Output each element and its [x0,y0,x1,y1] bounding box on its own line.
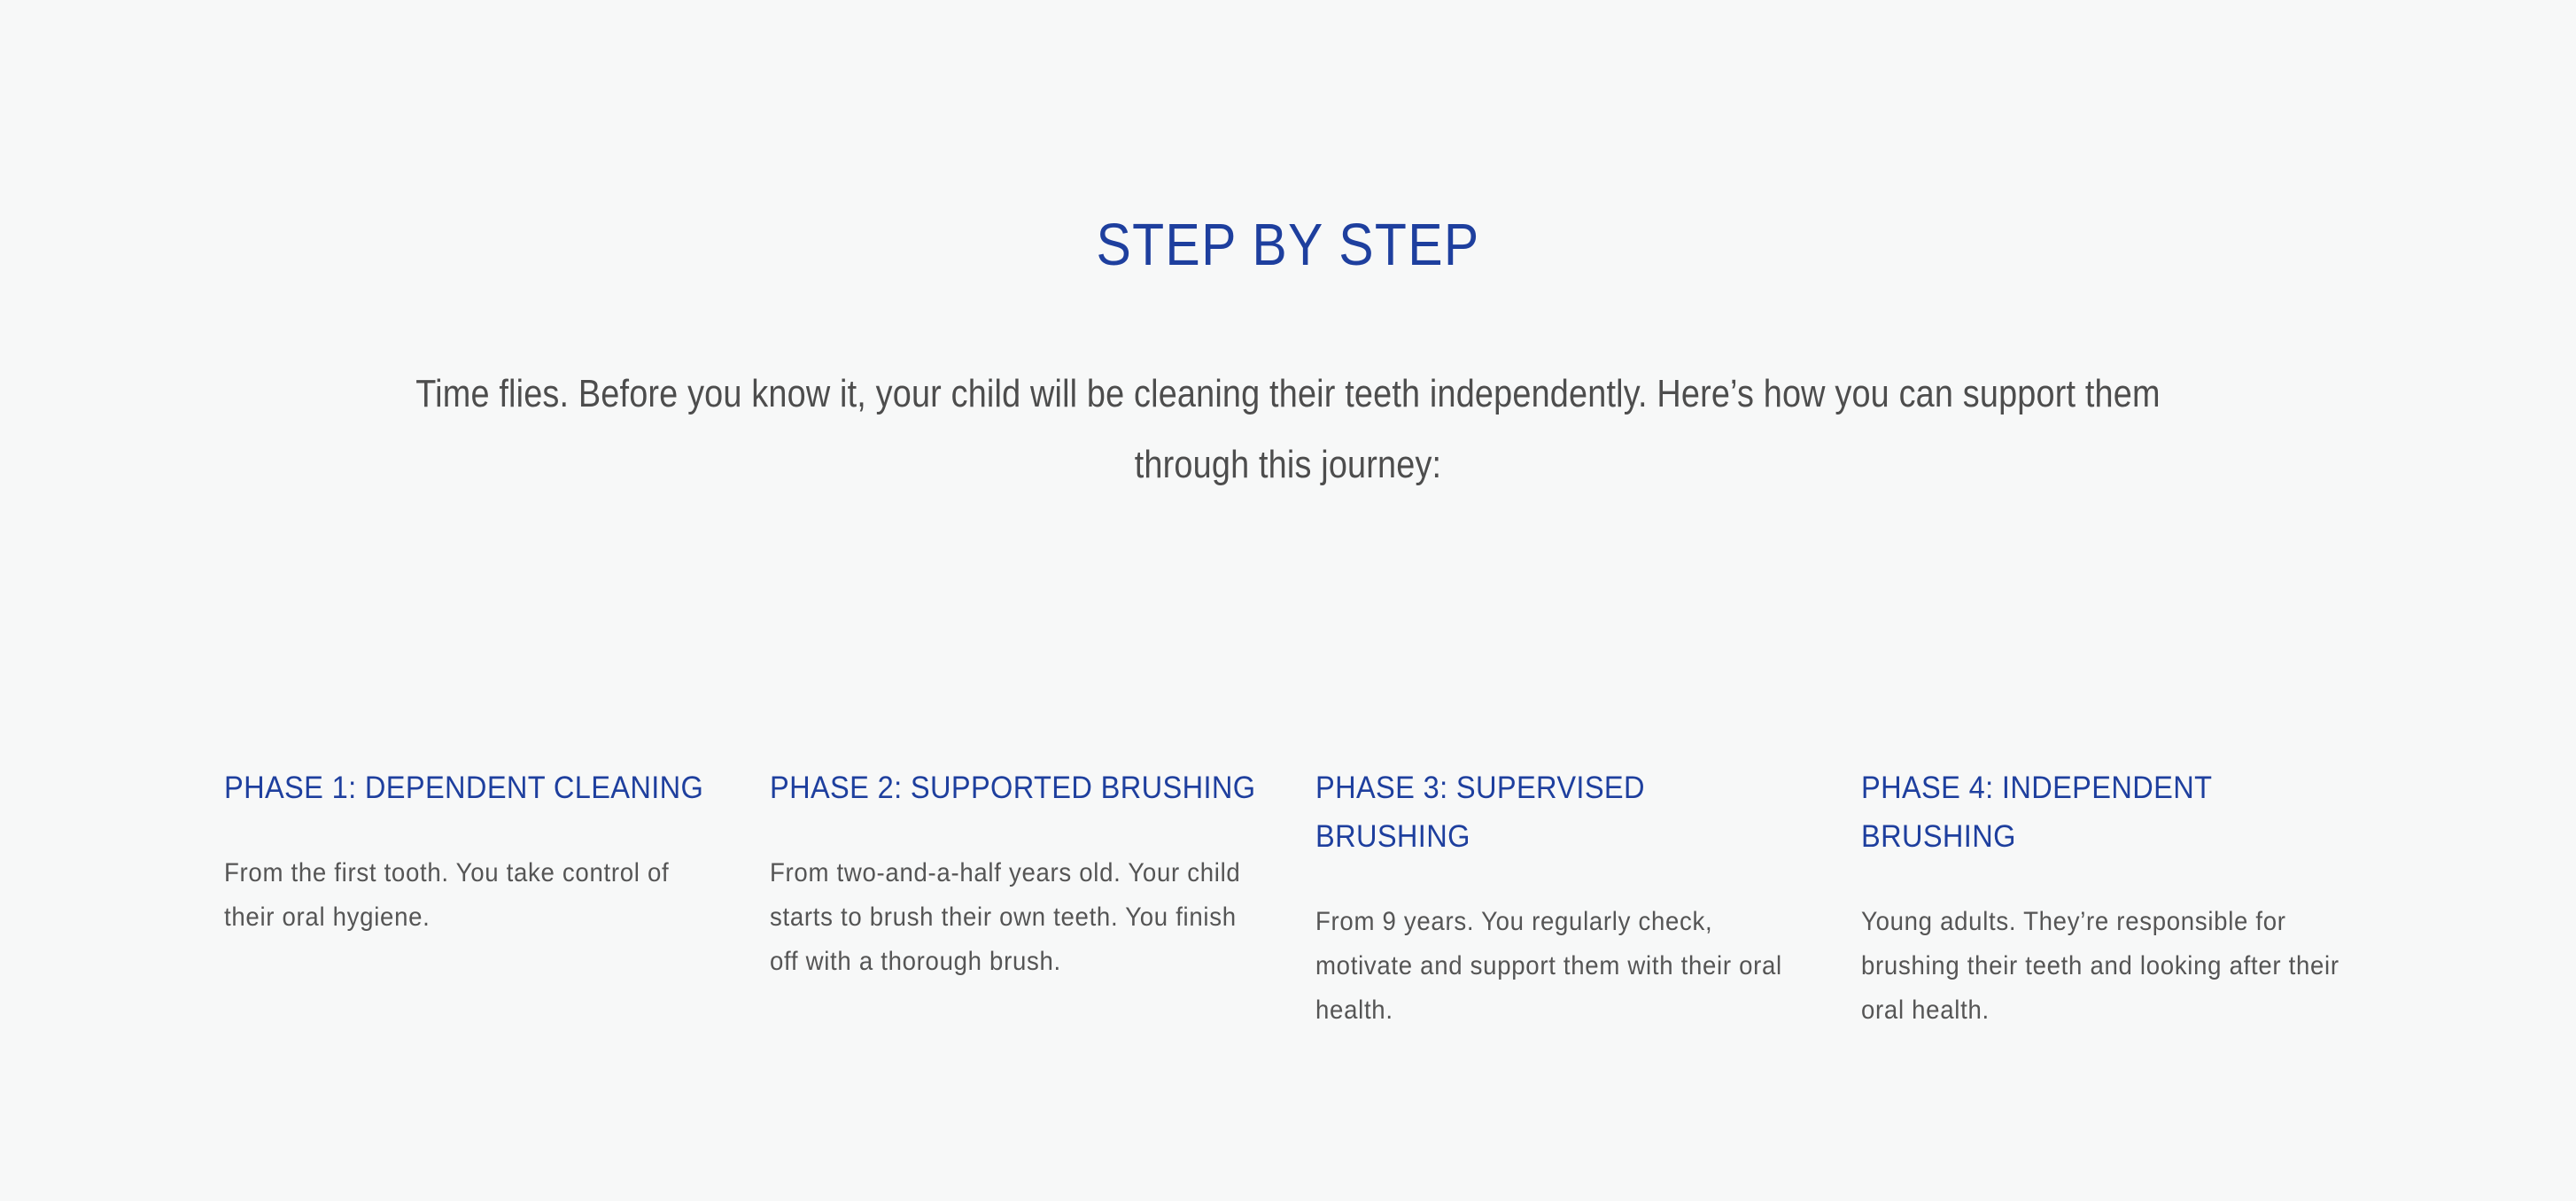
phase-1-body: From the first tooth. You take control o… [224,851,711,940]
phase-columns: PHASE 1: DEPENDENT CLEANING From the fir… [224,763,2352,1033]
phase-column-3: PHASE 3: SUPERVISED BRUSHING From 9 year… [1315,763,1804,1033]
phase-column-2: PHASE 2: SUPPORTED BRUSHING From two-and… [770,763,1258,984]
phase-3-title: PHASE 3: SUPERVISED BRUSHING [1315,763,1804,861]
page-title: STEP BY STEP [154,215,2421,275]
phase-column-4: PHASE 4: INDEPENDENT BRUSHING Young adul… [1861,763,2349,1033]
phase-3-body: From 9 years. You regularly check, motiv… [1315,900,1803,1033]
phase-2-title: PHASE 2: SUPPORTED BRUSHING [770,763,1258,812]
phase-column-1: PHASE 1: DEPENDENT CLEANING From the fir… [224,763,712,940]
page-subtitle: Time flies. Before you know it, your chi… [404,359,2171,500]
phase-2-body: From two-and-a-half years old. Your chil… [770,851,1257,984]
phase-4-body: Young adults. They’re responsible for br… [1861,900,2348,1033]
phase-1-title: PHASE 1: DEPENDENT CLEANING [224,763,712,812]
phase-4-title: PHASE 4: INDEPENDENT BRUSHING [1861,763,2349,861]
step-by-step-section: STEP BY STEP Time flies. Before you know… [0,0,2576,1201]
